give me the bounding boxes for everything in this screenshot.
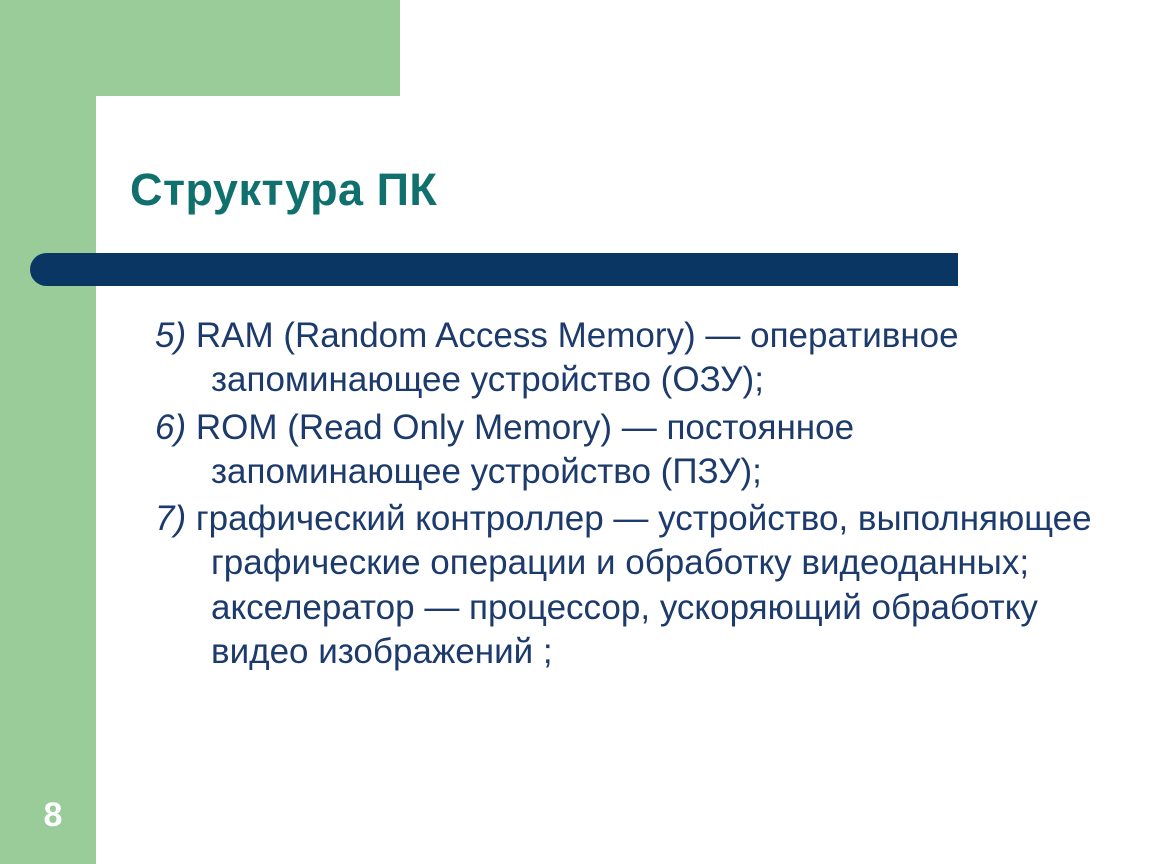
- list-item: 5) RAM (Random Access Memory) — оператив…: [155, 314, 1105, 403]
- green-top-block: [0, 0, 400, 96]
- list-item: 6) ROM (Read Only Memory) — постоянное з…: [155, 406, 1105, 495]
- title-divider-bar: [30, 253, 958, 286]
- page-title: Структура ПК: [130, 166, 930, 213]
- list-item-marker: 6): [155, 408, 186, 447]
- list-item-text: RAM (Random Access Memory) — оперативное…: [186, 316, 958, 399]
- slide-body-list: 5) RAM (Random Access Memory) — оператив…: [155, 314, 1105, 677]
- list-item-text: графический контроллер — устройство, вып…: [186, 499, 1091, 671]
- slide-number: 8: [30, 798, 76, 832]
- presentation-slide: Структура ПК 5) RAM (Random Access Memor…: [0, 0, 1150, 864]
- green-left-sidebar: [0, 0, 96, 864]
- list-item: 7) графический контроллер — устройство, …: [155, 497, 1105, 674]
- list-item-marker: 7): [155, 499, 186, 538]
- list-item-text: ROM (Read Only Memory) — постоянное запо…: [186, 408, 854, 491]
- list-item-marker: 5): [155, 316, 186, 355]
